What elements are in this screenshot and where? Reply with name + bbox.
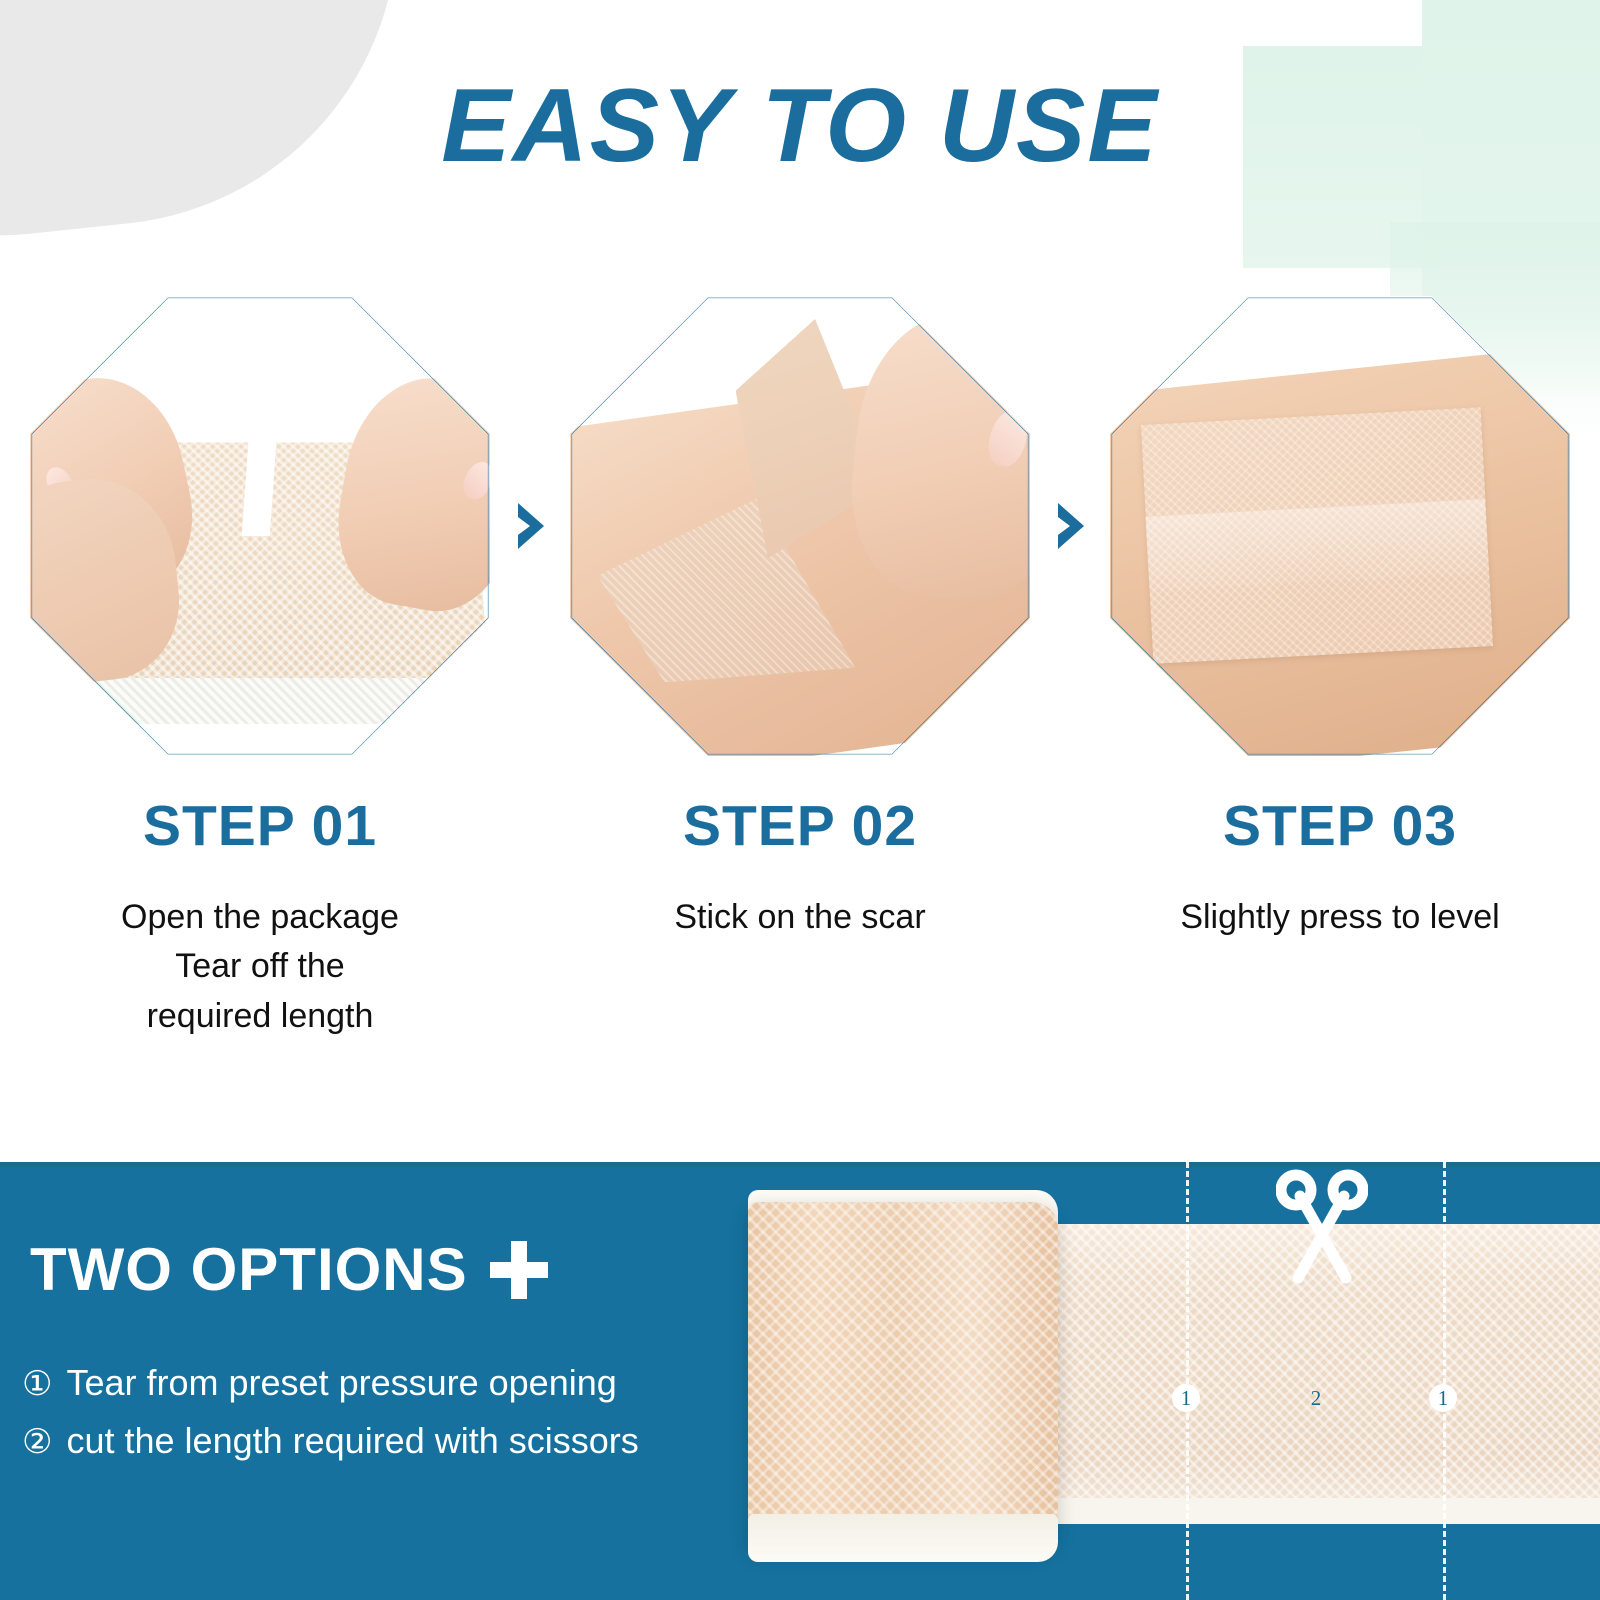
tape-roll-shape (748, 1202, 1058, 1550)
right-thumbnail-shape (983, 407, 1030, 472)
step-2-description: Stick on the scar (674, 893, 925, 942)
step-1-description: Open the package Tear off the required l… (121, 893, 399, 1041)
options-list: ① Tear from preset pressure opening ② cu… (22, 1354, 639, 1471)
steps-row: STEP 01 Open the package Tear off the re… (0, 296, 1600, 1086)
photo-press-to-level (1110, 296, 1570, 756)
option-2-text: cut the length required with scissors (66, 1412, 638, 1470)
step-3-description: Slightly press to level (1180, 893, 1499, 942)
option-2-number: ② (22, 1415, 52, 1470)
option-item-2: ② cut the length required with scissors (22, 1412, 639, 1470)
arrow-step1-to-step2 (500, 296, 560, 756)
step-2-label: STEP 02 (683, 798, 917, 855)
photo-stick-on-scar (570, 296, 1030, 756)
chevron-right-icon (510, 499, 550, 553)
tape-roll-bottom-edge (748, 1514, 1058, 1562)
tape-strip-bottom-edge (1048, 1498, 1600, 1524)
cut-guide-line-2 (1443, 1162, 1446, 1600)
scissors-icon (1276, 1166, 1368, 1284)
cut-guide-line-1 (1186, 1162, 1189, 1600)
chevron-right-icon (1050, 499, 1090, 553)
medical-cross-icon (490, 1241, 548, 1299)
step-1-label: STEP 01 (143, 798, 377, 855)
step-card-1: STEP 01 Open the package Tear off the re… (20, 296, 500, 1041)
tape-marker-1: 1 (1172, 1384, 1200, 1412)
option-item-1: ① Tear from preset pressure opening (22, 1354, 639, 1412)
arrow-step2-to-step3 (1040, 296, 1100, 756)
option-1-number: ① (22, 1357, 52, 1412)
option-1-text: Tear from preset pressure opening (66, 1354, 616, 1412)
right-thumbnail-shape (458, 457, 490, 503)
tape-white-edge-shape (67, 678, 453, 724)
step-card-3: STEP 03 Slightly press to level (1100, 296, 1580, 942)
step-3-label: STEP 03 (1223, 798, 1457, 855)
tape-marker-3: 1 (1429, 1384, 1457, 1412)
panel-title-text: TWO OPTIONS (30, 1240, 468, 1300)
step-card-2: STEP 02 Stick on the scar (560, 296, 1040, 942)
page-title: EASY TO USE (0, 72, 1600, 181)
step-3-image (1110, 296, 1570, 756)
step-2-image (570, 296, 1030, 756)
photo-tearing-package (30, 296, 490, 756)
tape-marker-2: 2 (1302, 1384, 1330, 1412)
panel-title-row: TWO OPTIONS (30, 1240, 548, 1300)
step-1-image (30, 296, 490, 756)
